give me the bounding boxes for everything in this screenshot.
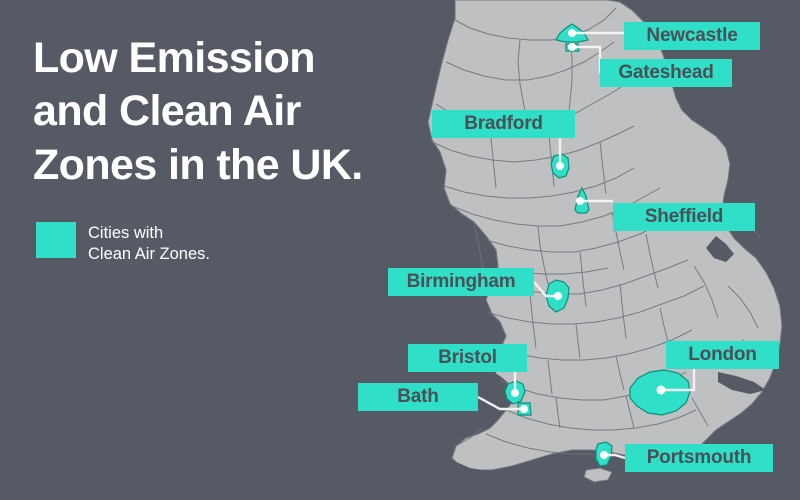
city-label-bradford[interactable]: Bradford: [432, 110, 575, 138]
page-title: Low Emission and Clean Air Zones in the …: [33, 32, 433, 192]
title-line-1: Low Emission: [33, 32, 433, 85]
title-line-3: Zones in the UK.: [33, 139, 433, 192]
city-label-newcastle[interactable]: Newcastle: [624, 22, 760, 50]
infographic-canvas: Low Emission and Clean Air Zones in the …: [0, 0, 800, 500]
city-label-bath[interactable]: Bath: [358, 383, 478, 411]
city-label-sheffield[interactable]: Sheffield: [613, 203, 755, 231]
legend: Cities with Clean Air Zones.: [36, 222, 210, 265]
dot-bristol: [511, 389, 519, 397]
city-label-portsmouth[interactable]: Portsmouth: [625, 444, 773, 472]
dot-bath: [520, 405, 528, 413]
dot-sheffield: [576, 197, 584, 205]
legend-swatch: [36, 222, 76, 258]
dot-london: [657, 386, 666, 395]
legend-line-2: Clean Air Zones.: [88, 244, 210, 265]
legend-line-1: Cities with: [88, 223, 210, 244]
city-label-bristol[interactable]: Bristol: [408, 344, 527, 372]
dot-bradford: [556, 162, 564, 170]
dot-newcastle: [568, 29, 576, 37]
city-label-gateshead[interactable]: Gateshead: [600, 59, 732, 87]
dot-birmingham: [554, 292, 562, 300]
title-line-2: and Clean Air: [33, 85, 433, 138]
dot-portsmouth: [600, 451, 608, 459]
city-label-london[interactable]: London: [666, 341, 779, 369]
legend-text: Cities with Clean Air Zones.: [88, 222, 210, 265]
city-label-birmingham[interactable]: Birmingham: [388, 268, 534, 296]
dot-gateshead: [568, 43, 576, 51]
